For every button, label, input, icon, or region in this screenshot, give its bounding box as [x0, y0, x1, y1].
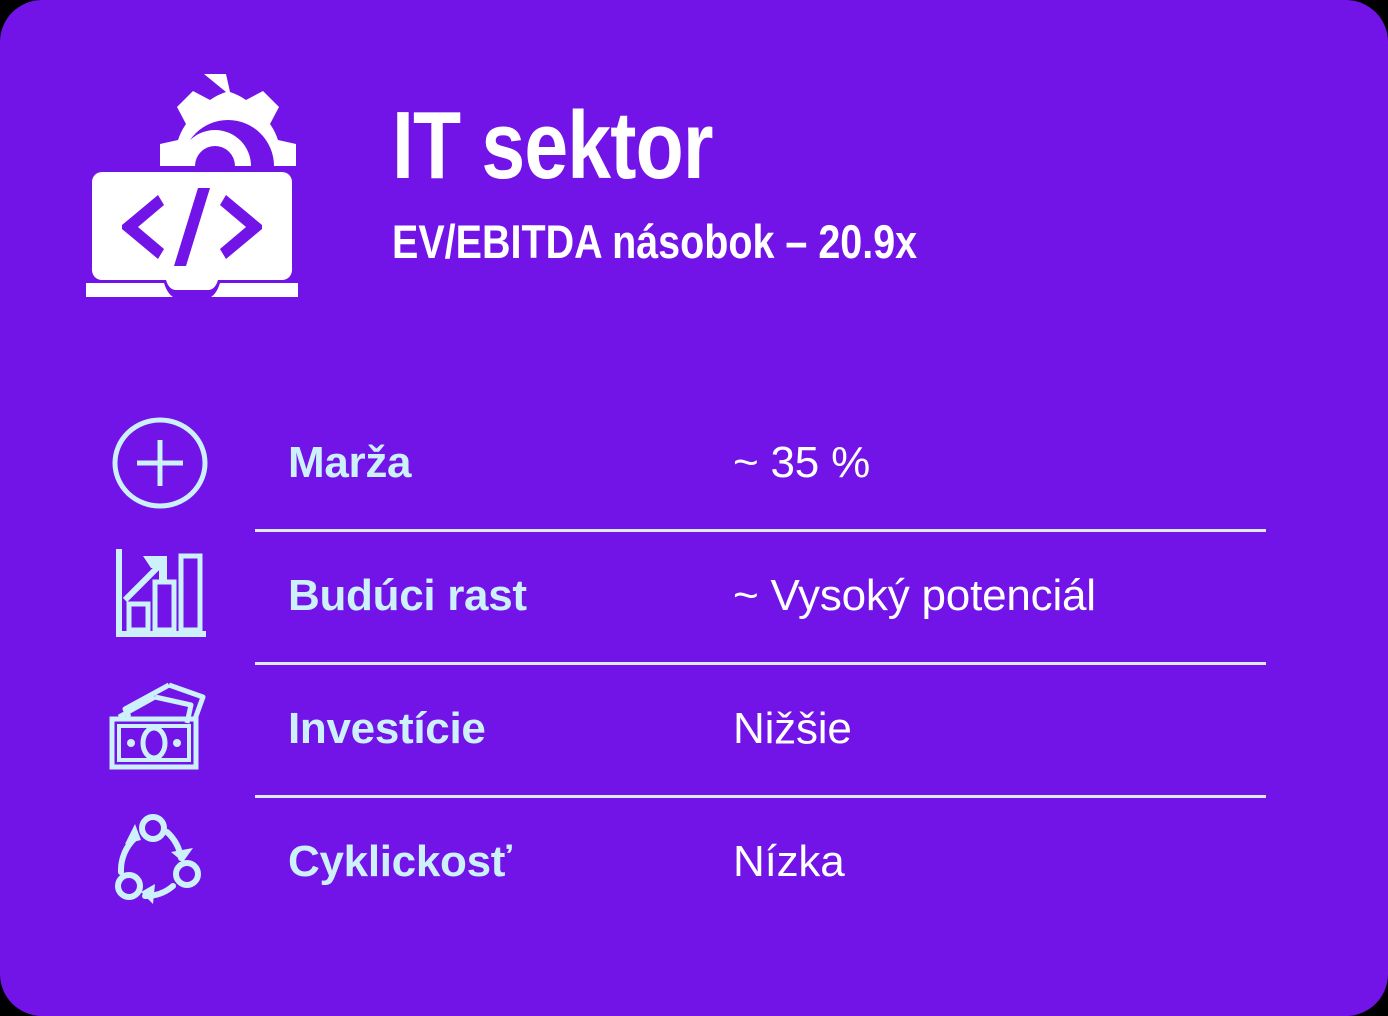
row-divider — [255, 662, 1266, 665]
plus-circle-icon — [107, 413, 213, 513]
banknotes-money-icon — [107, 679, 213, 779]
metrics-list: Marža ~ 35 % Budúci rast ~ V — [0, 396, 1388, 928]
laptop-code-gear-icon — [86, 62, 298, 297]
metric-label: Budúci rast — [288, 571, 527, 621]
metric-value: Nižšie — [733, 704, 852, 754]
sector-info-card: IT sektor EV/EBITDA násobok – 20.9x Marž… — [0, 0, 1388, 1016]
cycle-arrows-icon — [107, 812, 213, 912]
list-item: Cyklickosť Nízka — [0, 795, 1388, 928]
list-item: Marža ~ 35 % — [0, 396, 1388, 529]
row-divider — [255, 795, 1266, 798]
metric-label: Cyklickosť — [288, 837, 512, 887]
bar-chart-growth-icon — [107, 546, 213, 646]
page-subtitle: EV/EBITDA násobok – 20.9x — [392, 218, 1148, 265]
title-block: IT sektor EV/EBITDA násobok – 20.9x — [392, 98, 1292, 265]
list-item: Investície Nižšie — [0, 662, 1388, 795]
list-item: Budúci rast ~ Vysoký potenciál — [0, 529, 1388, 662]
metric-label: Marža — [288, 438, 411, 488]
metric-value: Nízka — [733, 837, 844, 887]
page-title: IT sektor — [392, 98, 1130, 194]
metric-value: ~ 35 % — [733, 438, 870, 488]
row-divider — [255, 529, 1266, 532]
metric-label: Investície — [288, 704, 486, 754]
card-header: IT sektor EV/EBITDA násobok – 20.9x — [0, 0, 1388, 330]
metric-value: ~ Vysoký potenciál — [733, 571, 1096, 621]
